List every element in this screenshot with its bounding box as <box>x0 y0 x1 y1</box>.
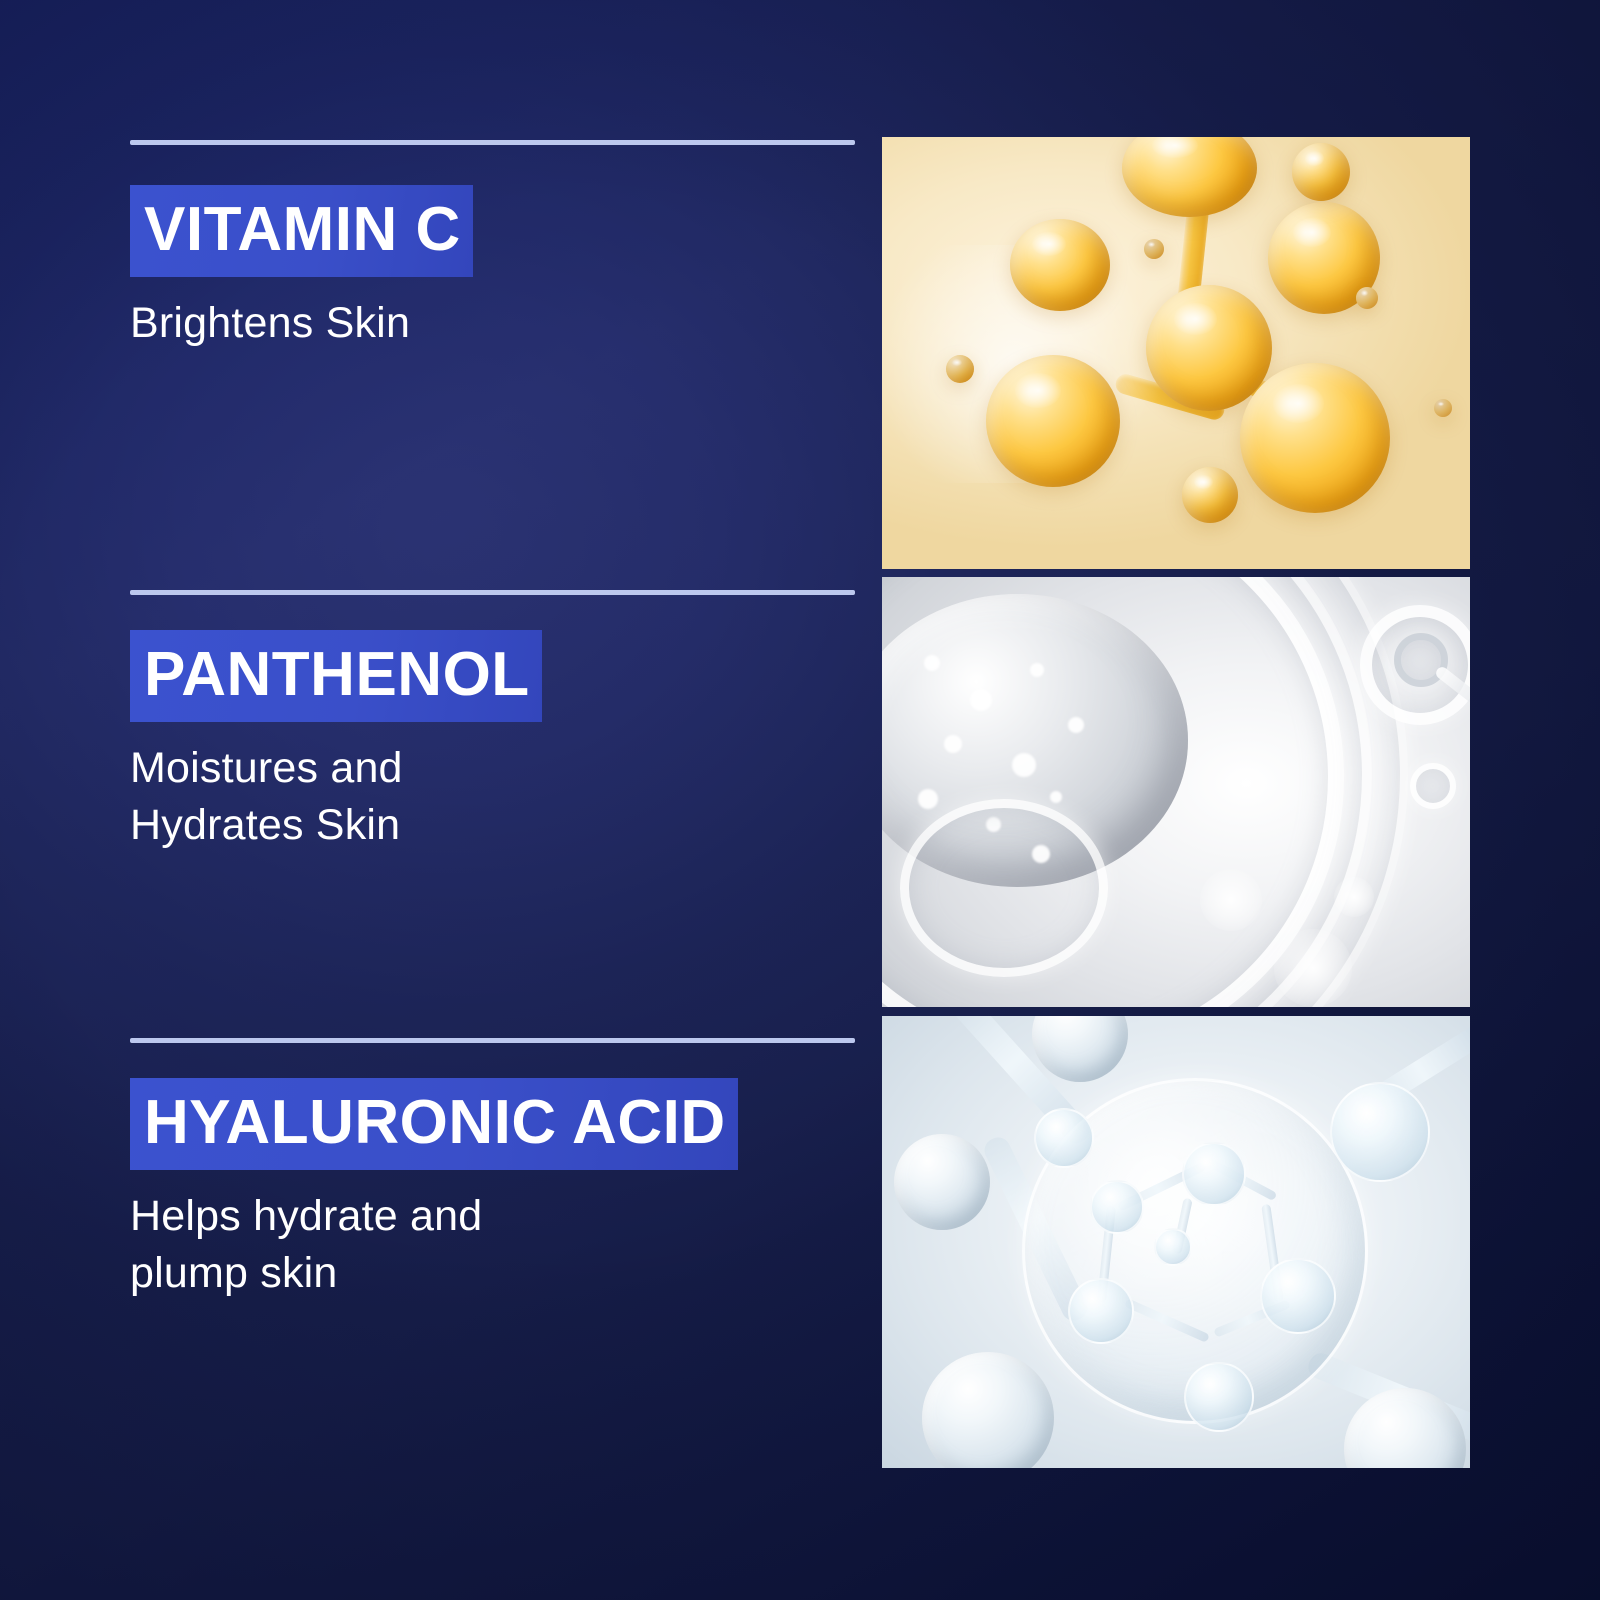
inner-atom <box>1034 1108 1094 1168</box>
oil-bubble <box>1292 143 1350 201</box>
inner-atom <box>1182 1142 1246 1206</box>
description-panthenol: Moistures andHydrates Skin <box>130 740 860 854</box>
gel-speck <box>944 735 962 753</box>
lattice-atom <box>1032 1016 1128 1082</box>
floating-bubble <box>1330 1082 1430 1182</box>
heading-panthenol: PANTHENOL <box>130 630 542 722</box>
heading-vitamin-c: VITAMIN C <box>130 185 473 277</box>
oil-bubble <box>1122 137 1257 217</box>
oil-bubble <box>1010 219 1110 311</box>
oil-bubble <box>1182 467 1238 523</box>
gel-speck <box>1030 663 1044 677</box>
ingredient-infographic: VITAMIN C Brightens Skin PANTHENOL Moist… <box>0 0 1600 1600</box>
heading-wrap-hyaluronic-acid: HYALURONIC ACID <box>130 1078 738 1170</box>
oil-droplet <box>946 355 974 383</box>
oil-bubble <box>986 355 1120 487</box>
lattice-atom <box>1344 1388 1466 1468</box>
golden-oil-molecule-photo <box>882 137 1470 569</box>
heading-wrap-panthenol: PANTHENOL <box>130 630 542 722</box>
blue-molecular-lattice-photo <box>882 1016 1470 1468</box>
inner-atom <box>1068 1278 1134 1344</box>
heading-hyaluronic-acid: HYALURONIC ACID <box>130 1078 738 1170</box>
oil-droplet <box>1356 287 1378 309</box>
inner-atom <box>1090 1180 1144 1234</box>
section-text-panthenol: PANTHENOL Moistures andHydrates Skin <box>130 630 860 854</box>
gel-speck <box>1012 753 1036 777</box>
inner-atom <box>1184 1362 1254 1432</box>
lattice-atom <box>894 1134 990 1230</box>
oil-droplet <box>1434 399 1452 417</box>
gel-speck <box>924 655 940 671</box>
gel-bokeh <box>1200 869 1262 931</box>
gel-bokeh <box>1334 877 1374 917</box>
gel-speck <box>970 689 992 711</box>
oil-bubble <box>1146 285 1272 411</box>
silver-water-gel-photo <box>882 577 1470 1007</box>
section-text-hyaluronic-acid: HYALURONIC ACID Helps hydrate andplump s… <box>130 1078 860 1302</box>
divider-rule-2 <box>130 590 855 595</box>
gel-bokeh <box>1274 929 1352 1007</box>
heading-wrap-vitamin-c: VITAMIN C <box>130 185 473 277</box>
gel-bubble-tiny <box>1410 763 1456 809</box>
divider-rule-1 <box>130 140 855 145</box>
divider-rule-3 <box>130 1038 855 1043</box>
oil-droplet <box>1144 239 1164 259</box>
gel-speck <box>918 789 938 809</box>
gel-lens <box>900 799 1108 977</box>
section-text-vitamin-c: VITAMIN C Brightens Skin <box>130 185 860 352</box>
gel-speck <box>1068 717 1084 733</box>
text-column: VITAMIN C Brightens Skin PANTHENOL Moist… <box>0 0 880 1600</box>
gel-speck <box>1050 791 1062 803</box>
lattice-atom <box>922 1352 1054 1468</box>
description-hyaluronic-acid: Helps hydrate andplump skin <box>130 1188 860 1302</box>
image-panel-vitamin-c <box>882 137 1470 569</box>
oil-bubble <box>1240 363 1390 513</box>
image-panel-hyaluronic-acid <box>882 1016 1470 1468</box>
image-panel-panthenol <box>882 577 1470 1007</box>
inner-atom <box>1154 1228 1192 1266</box>
description-vitamin-c: Brightens Skin <box>130 295 860 352</box>
inner-atom <box>1260 1258 1336 1334</box>
